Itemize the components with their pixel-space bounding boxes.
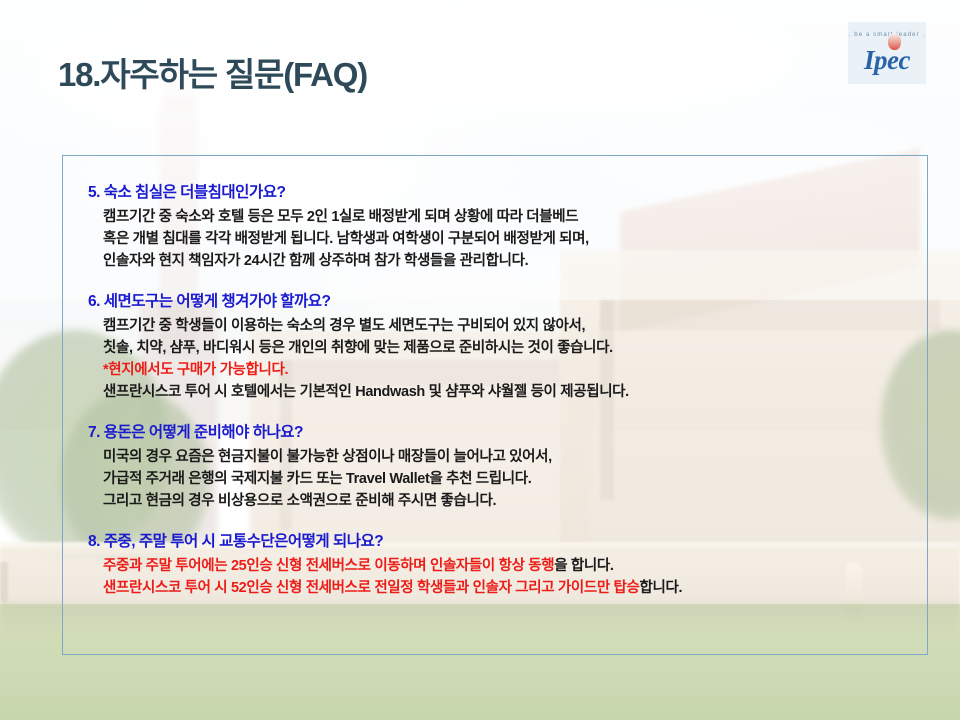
faq-answer-list: 주중과 주말 투어에는 25인승 신형 전세버스로 이동하며 인솔자들이 항상 … <box>103 555 938 599</box>
faq-answer-line: 샌프란시스코 투어 시 호텔에서는 기본적인 Handwash 및 샴푸와 샤월… <box>103 381 938 403</box>
faq-answer-line: 가급적 주거래 은행의 국제지불 카드 또는 Travel Wallet을 추천… <box>103 468 938 490</box>
faq-answer-line: 주중과 주말 투어에는 25인승 신형 전세버스로 이동하며 인솔자들이 항상 … <box>103 555 938 577</box>
page-title: 18.자주하는 질문(FAQ) <box>58 48 367 96</box>
slide-content: 18.자주하는 질문(FAQ) . be a smart leader . Ip… <box>0 0 960 720</box>
faq-question: 5. 숙소 침실은 더블침대인가요? <box>88 182 938 204</box>
faq-question: 8. 주중, 주말 투어 시 교통수단은어떻게 되나요? <box>88 531 938 553</box>
flame-icon <box>888 33 901 50</box>
faq-item: 7. 용돈은 어떻게 준비해야 하나요?미국의 경우 요즘은 현금지불이 불가능… <box>88 422 938 512</box>
logo-tagline: . be a smart leader . <box>849 32 925 38</box>
logo-wordmark: Ipec <box>864 47 910 74</box>
answer-segment-red: 주중과 주말 투어에는 25인승 신형 전세버스로 이동하며 인솔자들이 항상 … <box>103 558 554 574</box>
faq-item: 6. 세면도구는 어떻게 챙겨가야 할까요?캠프기간 중 학생들이 이용하는 숙… <box>88 291 938 403</box>
faq-question: 7. 용돈은 어떻게 준비해야 하나요? <box>88 422 938 444</box>
faq-answer-line: 칫솔, 치약, 샴푸, 바디워시 등은 개인의 취향에 맞는 제품으로 준비하시… <box>103 337 938 359</box>
faq-answer-line: 미국의 경우 요즘은 현금지불이 불가능한 상점이나 매장들이 늘어나고 있어서… <box>103 446 938 468</box>
faq-answer-list: 미국의 경우 요즘은 현금지불이 불가능한 상점이나 매장들이 늘어나고 있어서… <box>103 446 938 512</box>
faq-answer-line: 혹은 개별 침대를 각각 배정받게 됩니다. 남학생과 여학생이 구분되어 배정… <box>103 228 938 250</box>
faq-answer-list: 캠프기간 중 학생들이 이용하는 숙소의 경우 별도 세면도구는 구비되어 있지… <box>103 315 938 403</box>
ipec-logo: . be a smart leader . Ipec <box>848 22 926 84</box>
faq-item: 5. 숙소 침실은 더블침대인가요?캠프기간 중 숙소와 호텔 등은 모두 2인… <box>88 182 938 272</box>
faq-question: 6. 세면도구는 어떻게 챙겨가야 할까요? <box>88 291 938 313</box>
answer-segment-black: 합니다. <box>640 580 683 596</box>
faq-answer-line: 샌프란시스코 투어 시 52인승 신형 전세버스로 전일정 학생들과 인솔자 그… <box>103 577 938 599</box>
answer-segment-black: 을 합니다. <box>554 558 613 574</box>
faq-answer-line: 캠프기간 중 학생들이 이용하는 숙소의 경우 별도 세면도구는 구비되어 있지… <box>103 315 938 337</box>
faq-answer-line: 캠프기간 중 숙소와 호텔 등은 모두 2인 1실로 배정받게 되며 상황에 따… <box>103 206 938 228</box>
faq-answer-line: 인솔자와 현지 책임자가 24시간 함께 상주하며 참가 학생들을 관리합니다. <box>103 250 938 272</box>
answer-segment-red: 샌프란시스코 투어 시 52인승 신형 전세버스로 전일정 학생들과 인솔자 그… <box>103 580 640 596</box>
faq-item: 8. 주중, 주말 투어 시 교통수단은어떻게 되나요?주중과 주말 투어에는 … <box>88 531 938 599</box>
faq-answer-line: *현지에서도 구매가 가능합니다. <box>103 359 938 381</box>
logo-mark: Ipec <box>848 40 926 74</box>
faq-answer-list: 캠프기간 중 숙소와 호텔 등은 모두 2인 1실로 배정받게 되며 상황에 따… <box>103 206 938 272</box>
faq-slide: 18.자주하는 질문(FAQ) . be a smart leader . Ip… <box>0 0 960 720</box>
faq-answer-line: 그리고 현금의 경우 비상용으로 소액권으로 준비해 주시면 좋습니다. <box>103 490 938 512</box>
faq-list: 5. 숙소 침실은 더블침대인가요?캠프기간 중 숙소와 호텔 등은 모두 2인… <box>88 182 938 599</box>
